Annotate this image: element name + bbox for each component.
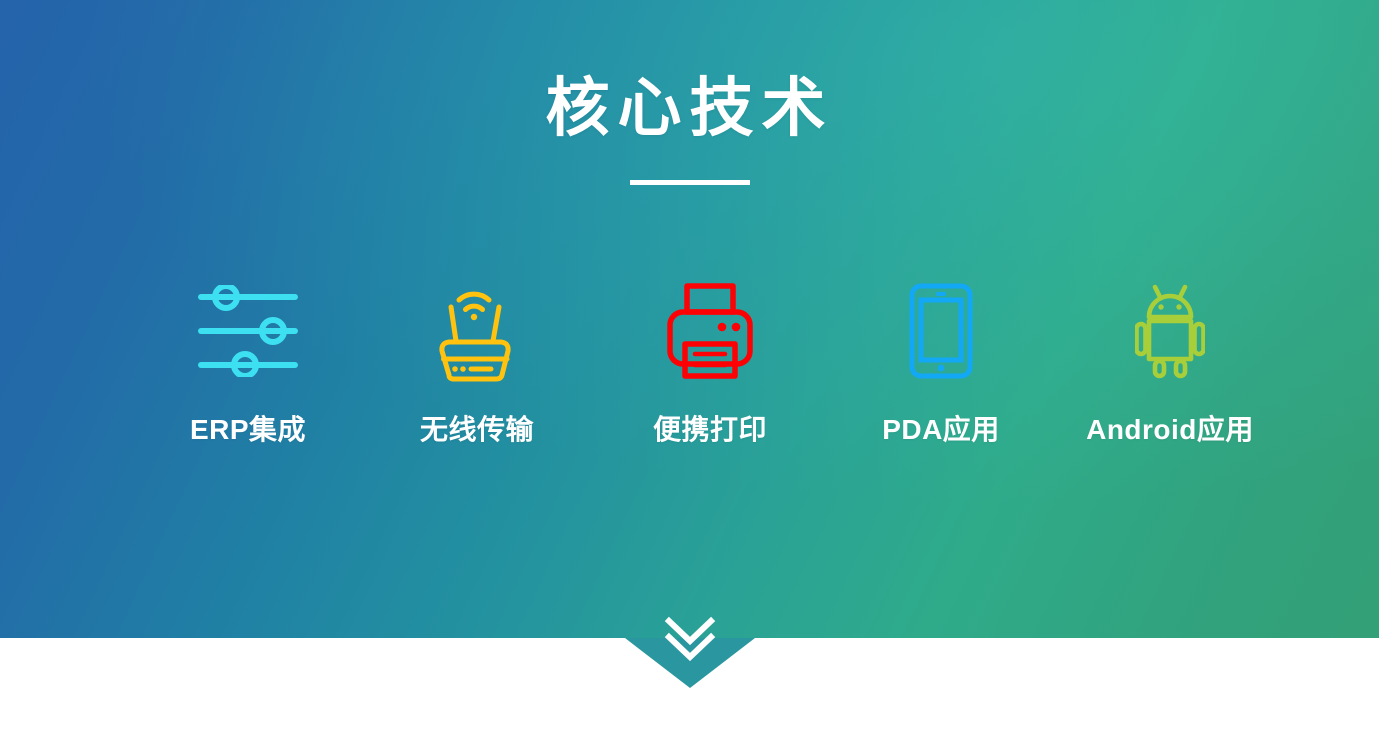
feature-item-printer[interactable]: 便携打印 [610,276,810,448]
feature-label: Android应用 [1086,408,1254,448]
feature-item-erp[interactable]: ERP集成 [148,276,348,448]
sliders-icon [197,285,299,377]
android-robot-icon [1135,283,1205,379]
wireless-router-icon [429,279,525,383]
hero-banner: 核心技术 ERP集成 [0,0,1379,638]
feature-label: 便携打印 [653,408,767,448]
feature-item-android[interactable]: Android应用 [1070,276,1270,448]
title-block: 核心技术 [0,76,1379,185]
icon-container [909,276,973,386]
printer-icon [666,282,754,380]
feature-label: ERP集成 [190,408,306,448]
feature-label: PDA应用 [882,408,1000,448]
icon-container [197,276,299,386]
icon-container [429,276,525,386]
icon-container [666,276,754,386]
icon-container [1135,276,1205,386]
tablet-icon [909,283,973,379]
page-title: 核心技术 [0,76,1379,140]
scroll-down-button[interactable] [660,612,720,666]
feature-item-pda[interactable]: PDA应用 [841,276,1041,448]
feature-label: 无线传输 [420,408,534,448]
feature-row: ERP集成 [150,276,1270,476]
double-chevron-down-icon [661,615,719,663]
title-divider [630,180,750,185]
feature-item-wireless[interactable]: 无线传输 [377,276,577,448]
